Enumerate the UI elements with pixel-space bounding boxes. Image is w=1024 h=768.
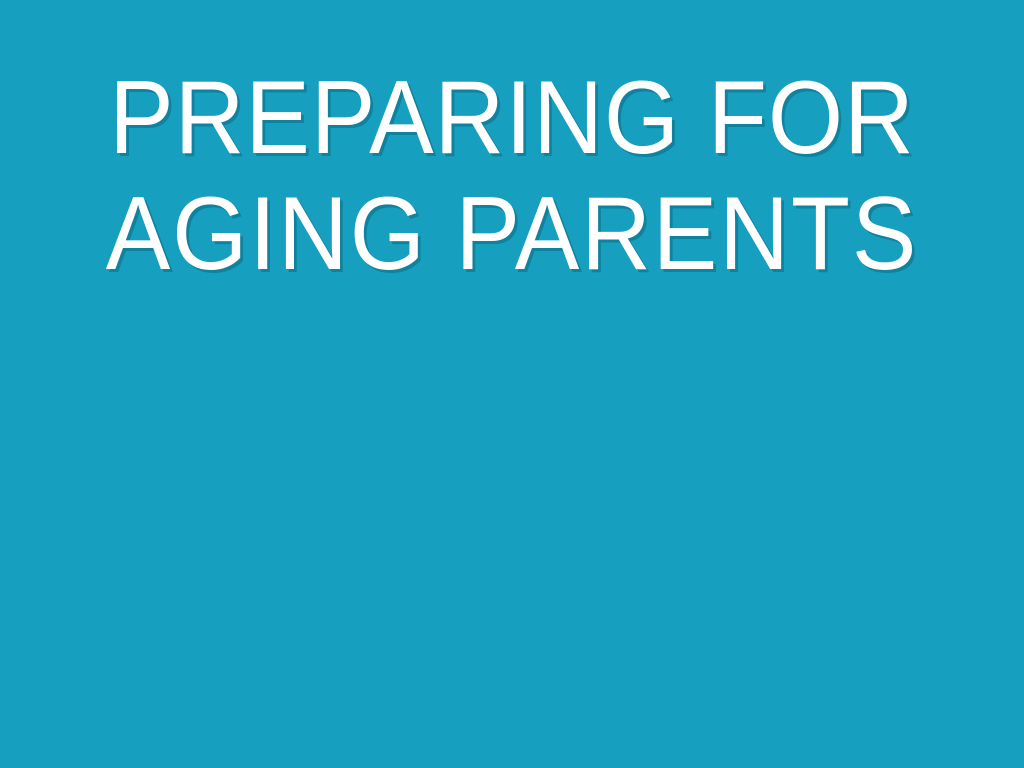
slide-canvas: PREPARING FOR AGING PARENTS	[0, 0, 1024, 768]
slide-body-area	[0, 310, 1024, 768]
title-line-1: PREPARING FOR	[73, 60, 951, 176]
title-line-2: AGING PARENTS	[73, 176, 951, 292]
slide-title: PREPARING FOR AGING PARENTS	[0, 60, 1024, 292]
